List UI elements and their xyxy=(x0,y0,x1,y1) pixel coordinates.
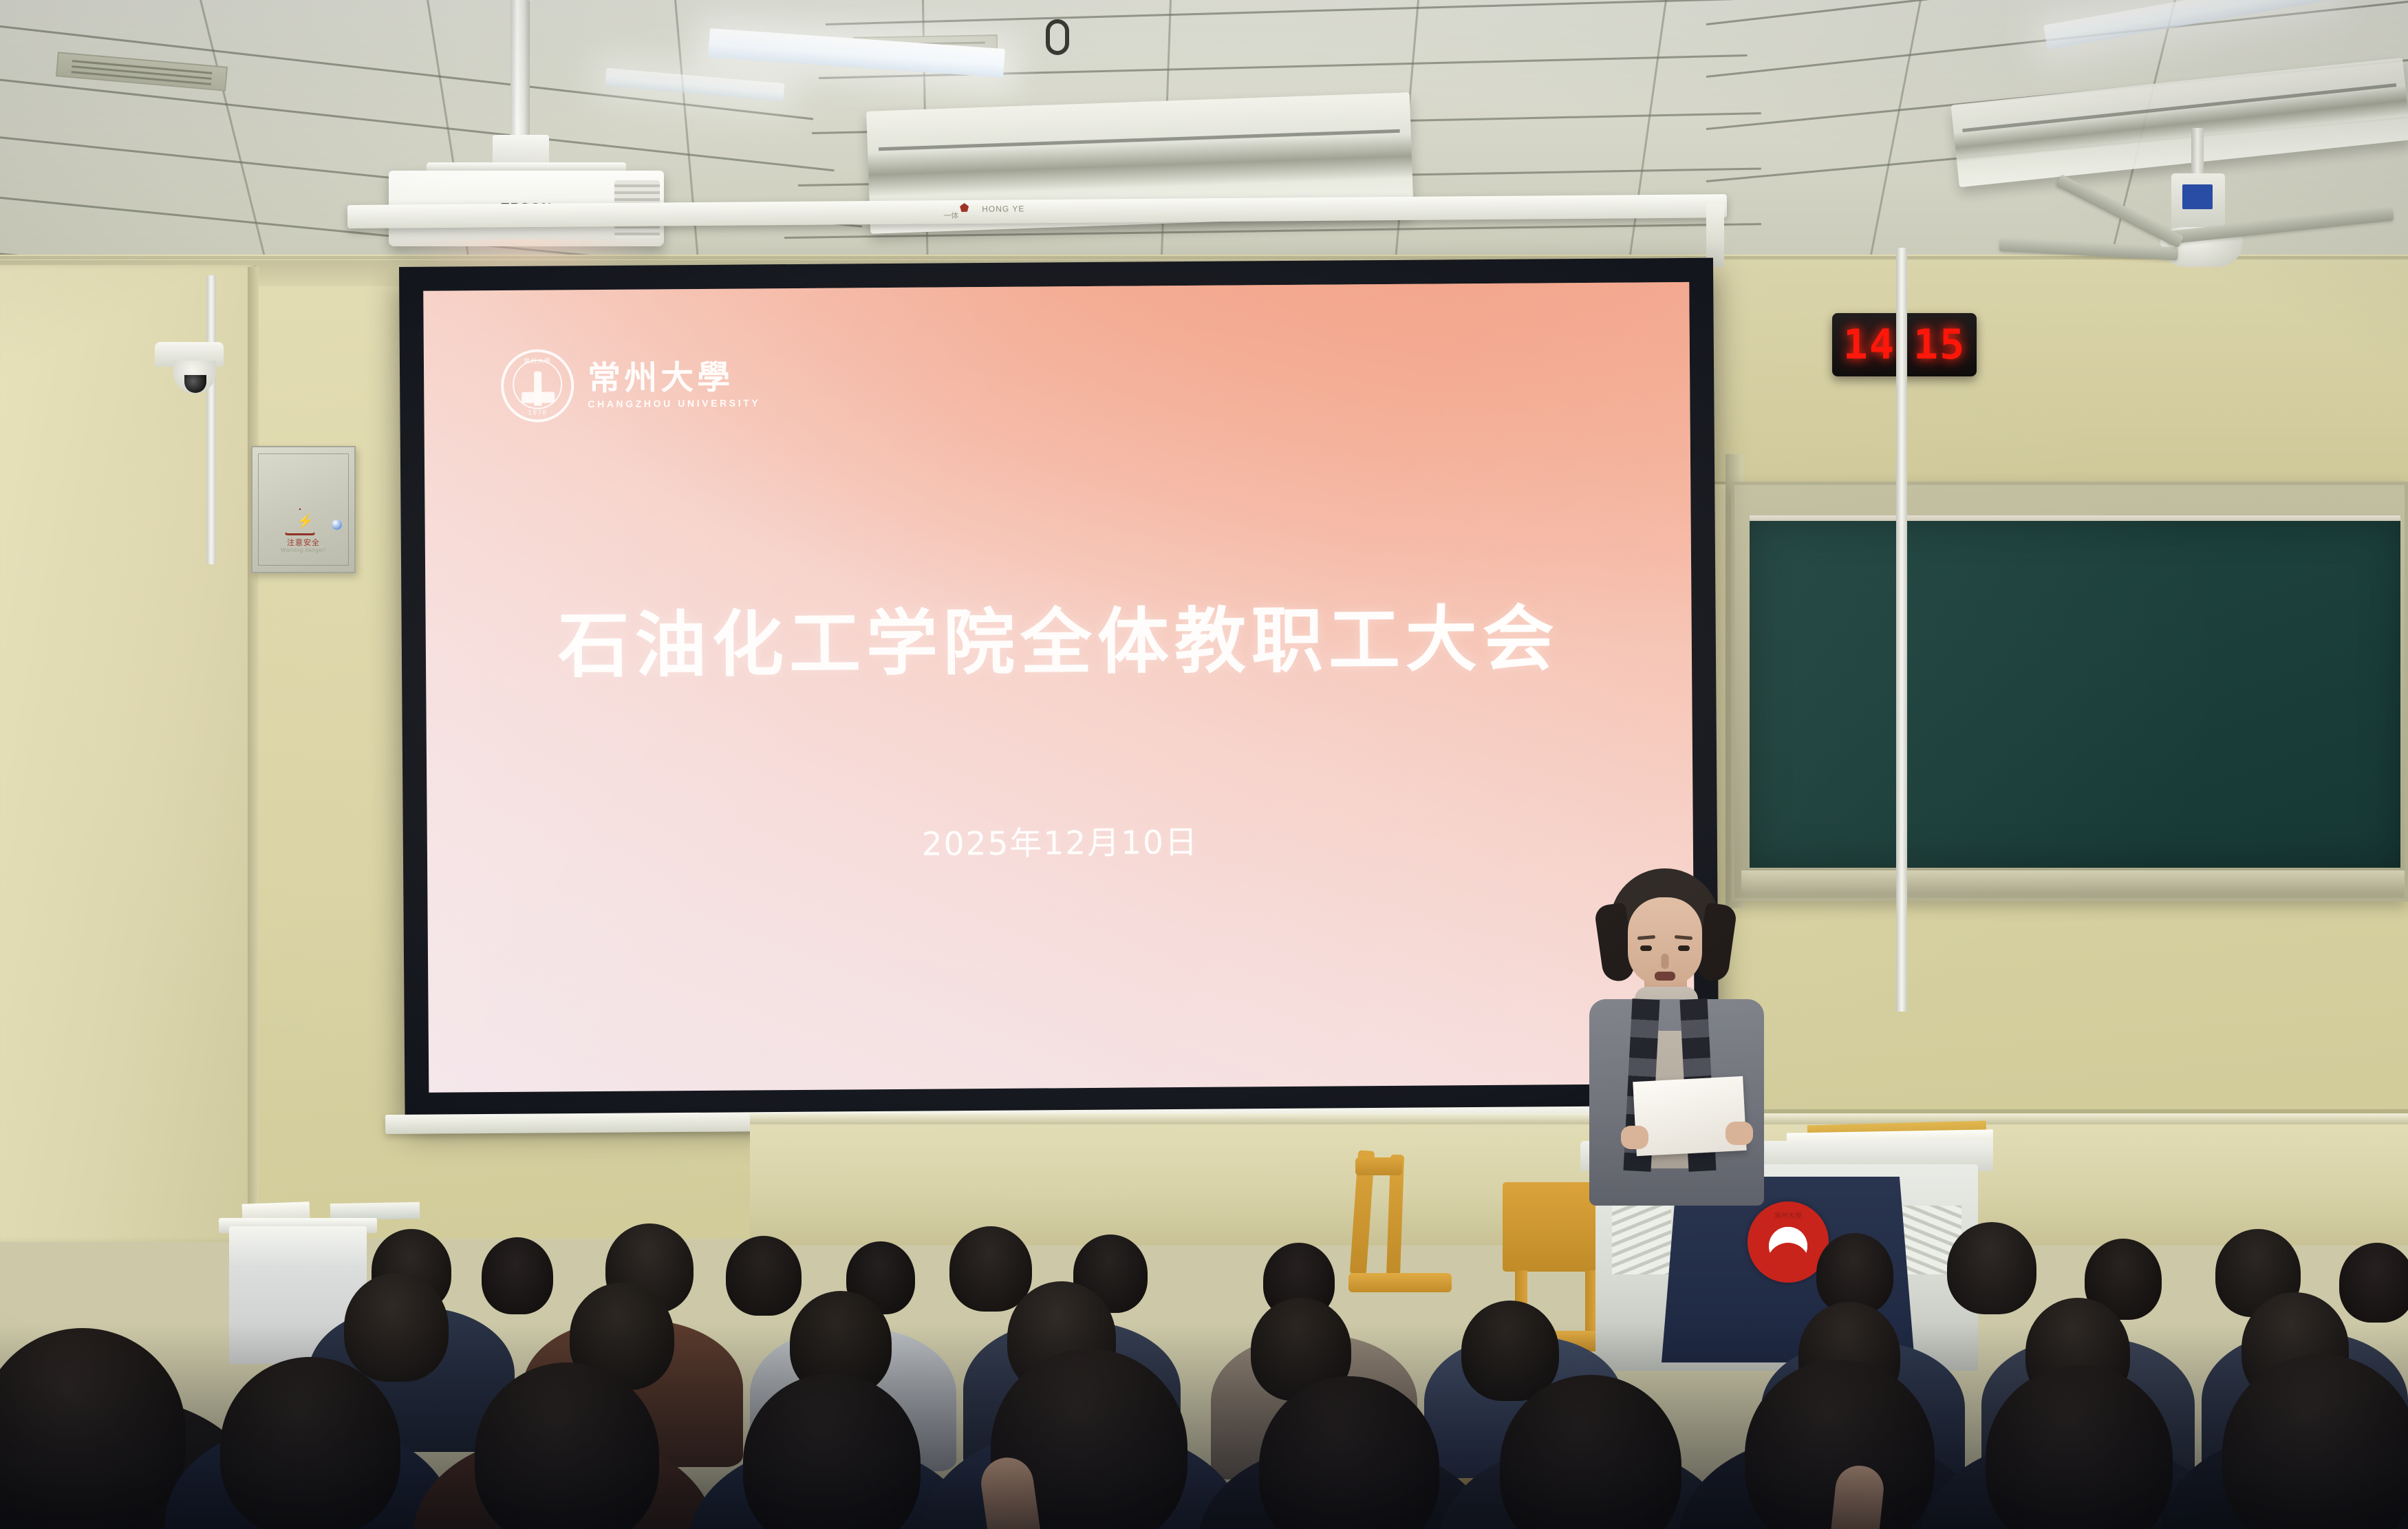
slide-date: 2025年12月10日 xyxy=(427,812,1693,868)
speaker-mouth xyxy=(1655,972,1675,981)
electrical-panel-box[interactable]: ⚡ 注意安全 Warning danger! xyxy=(251,446,356,573)
lecture-hall-scene: DAIKIN EPSON ⚡ 注意安全 Warning danger! 14 xyxy=(0,0,2408,1529)
roller-side-mark: 一体 xyxy=(943,210,958,221)
left-wall-edge xyxy=(248,267,259,1241)
speaker-nose xyxy=(1662,954,1669,969)
audience-head xyxy=(482,1237,553,1314)
speaker-eye-right xyxy=(1678,945,1690,951)
logo-name-cn: 常州大學 xyxy=(588,361,760,395)
audience-seating-area xyxy=(0,1101,2408,1529)
fan-brand-sticker xyxy=(2182,184,2213,209)
ceiling-hook xyxy=(1046,19,1069,55)
blackboard xyxy=(1731,482,2408,901)
clock-hours: 14 xyxy=(1843,321,1895,369)
slide-title: 石油化工学院全体教职工大会 xyxy=(425,599,1692,686)
speaker-eyebrow-left xyxy=(1637,935,1655,940)
audience-head xyxy=(726,1236,802,1316)
seal-arc-top: 常州大學 xyxy=(504,356,571,365)
wall-seam-3 xyxy=(0,256,2408,259)
audience-head xyxy=(1947,1222,2036,1314)
logo-name-en: CHANGZHOU UNIVERSITY xyxy=(588,397,760,409)
wall-conduit-pipe xyxy=(206,275,216,564)
audience-head-front xyxy=(0,1328,186,1529)
seal-book-icon xyxy=(522,392,555,403)
audience-head xyxy=(1461,1301,1559,1401)
audience-head-front xyxy=(220,1357,400,1529)
slide-logo: 常州大學 · 1978 · 常州大學 CHANGZHOU UNIVERSITY xyxy=(501,347,761,423)
projection-screen-surface: 常州大學 · 1978 · 常州大學 CHANGZHOU UNIVERSITY … xyxy=(423,282,1695,1093)
speaker-eyebrow-right xyxy=(1675,935,1692,940)
ac-vent-slot xyxy=(879,129,1400,151)
projection-screen: 常州大學 · 1978 · 常州大學 CHANGZHOU UNIVERSITY … xyxy=(399,258,1719,1117)
warning-label-en: Warning danger! xyxy=(252,547,354,553)
audience-head xyxy=(949,1226,1032,1312)
panel-lock-icon[interactable] xyxy=(332,520,342,530)
clock-minutes: 15 xyxy=(1913,321,1966,369)
logo-wordmark: 常州大學 CHANGZHOU UNIVERSITY xyxy=(588,361,760,409)
roller-brand-en: HONG YE xyxy=(982,204,1024,213)
roller-brand-mark-icon xyxy=(960,203,969,212)
blackboard-chalk-tray xyxy=(1741,870,2405,894)
blackboard-surface xyxy=(1750,521,2400,868)
screen-pull-rod[interactable] xyxy=(1896,248,1907,1012)
speaker-eye-left xyxy=(1640,945,1652,951)
lightning-bolt-icon: ⚡ xyxy=(297,515,314,528)
audience-head xyxy=(344,1273,449,1382)
speaker-face xyxy=(1628,897,1702,985)
seal-year: · 1978 · xyxy=(504,409,571,417)
wall-right-band xyxy=(1651,256,2408,483)
projector-mount-pole xyxy=(510,0,530,145)
audience-head xyxy=(2339,1243,2408,1323)
warning-label-cn: 注意安全 xyxy=(252,537,354,548)
university-seal-icon: 常州大學 · 1978 · xyxy=(501,349,574,423)
left-wall-panel xyxy=(0,265,256,1242)
